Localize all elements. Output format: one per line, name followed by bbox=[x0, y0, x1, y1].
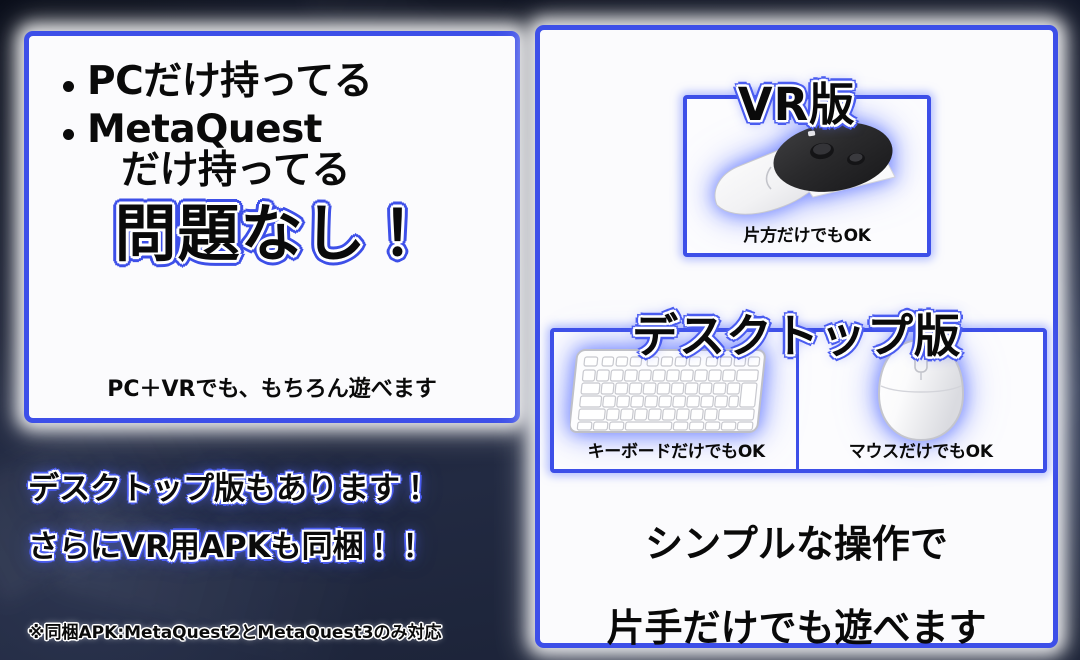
list-item-label: PCだけ持ってる bbox=[87, 60, 515, 104]
list-item-continuation: だけ持ってる bbox=[29, 149, 515, 193]
list-item: PCだけ持ってる bbox=[29, 58, 515, 106]
outside-caption-line2: さらにVR用APKも同梱！！ bbox=[28, 521, 426, 566]
vr-section-caption: 片方だけでもOK bbox=[687, 221, 927, 246]
panel-footnote: PC＋VRでも、もちろん遊べます bbox=[29, 371, 515, 403]
headline: 問題なし！ bbox=[29, 203, 515, 265]
keyboard-caption: キーボードだけでもOK bbox=[554, 437, 799, 462]
vr-section-title: VR版 bbox=[540, 68, 1053, 133]
bottom-message-line1: シンプルな操作で bbox=[540, 513, 1053, 568]
left-panel: PCだけ持ってる MetaQuest だけ持ってる 問題なし！ PC＋VRでも、… bbox=[24, 31, 520, 423]
list-item: MetaQuest bbox=[29, 106, 515, 154]
promo-banner: PCだけ持ってる MetaQuest だけ持ってる 問題なし！ PC＋VRでも、… bbox=[0, 0, 1080, 660]
bullet-dot-icon bbox=[63, 81, 74, 92]
outside-caption-line1: デスクトップ版もあります！ bbox=[28, 463, 431, 508]
bottom-message-line2: 片手だけでも遊べます bbox=[540, 597, 1053, 652]
requirement-bullet-list: PCだけ持ってる MetaQuest bbox=[29, 36, 515, 153]
desktop-section-title: デスクトップ版 bbox=[540, 300, 1053, 366]
list-item-label: MetaQuest bbox=[87, 108, 515, 152]
mouse-caption: マウスだけでもOK bbox=[799, 437, 1044, 462]
right-panel: 片方だけでもOK VR版 bbox=[535, 25, 1058, 648]
bullet-dot-icon bbox=[63, 129, 74, 140]
fineprint-note: ※同梱APK:MetaQuest2とMetaQuest3のみ対応 bbox=[28, 618, 442, 643]
